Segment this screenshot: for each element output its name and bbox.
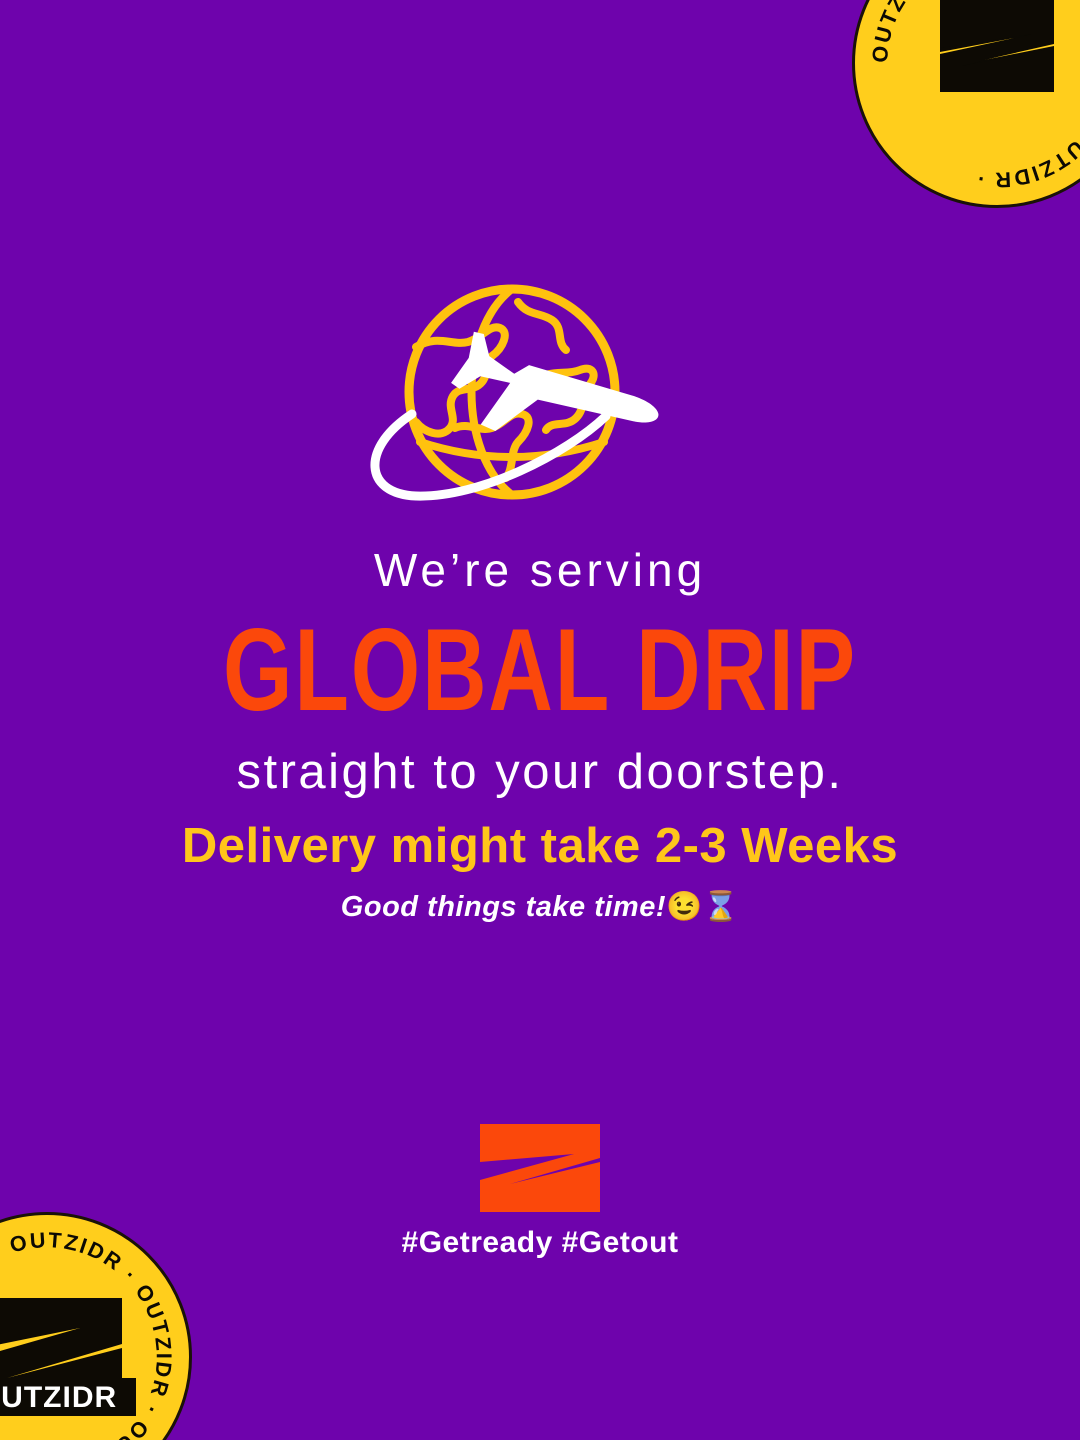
hashtags-text: #Getready #Getout <box>0 1226 1080 1260</box>
delivery-notice: Delivery might take 2-3 Weeks Good thing… <box>0 818 1080 925</box>
delivery-estimate-text: Delivery might take 2-3 Weeks <box>0 818 1080 874</box>
page-title: GLOBAL DRIP <box>38 610 1042 733</box>
badge-z-mark-icon: OUTZIDR <box>0 1282 142 1432</box>
footer-block: #Getready #Getout <box>0 1122 1080 1260</box>
poster-canvas: OUTZIDR · OUTZIDR · OUTZIDR · OUTZIDR · … <box>0 0 1080 1440</box>
delivery-note-text: Good things take time! <box>341 891 666 923</box>
kicker-text: We’re serving <box>0 545 1080 596</box>
wink-face-emoji-icon: 😉 <box>666 891 703 923</box>
hourglass-emoji-icon: ⌛ <box>703 891 740 923</box>
headline-block: We’re serving GLOBAL DRIP straight to yo… <box>0 545 1080 800</box>
brand-badge-top-right: OUTZIDR · OUTZIDR · OUTZIDR · OUTZIDR · <box>852 0 1080 208</box>
badge-wordmark: OUTZIDR <box>0 1381 117 1414</box>
delivery-note: Good things take time!😉⌛ <box>0 890 1080 925</box>
globe-with-airplane-icon <box>340 272 740 522</box>
badge-z-mark-icon <box>922 0 1072 138</box>
outzidr-z-logo-icon <box>478 1122 602 1214</box>
subline-text: straight to your doorstep. <box>0 746 1080 800</box>
